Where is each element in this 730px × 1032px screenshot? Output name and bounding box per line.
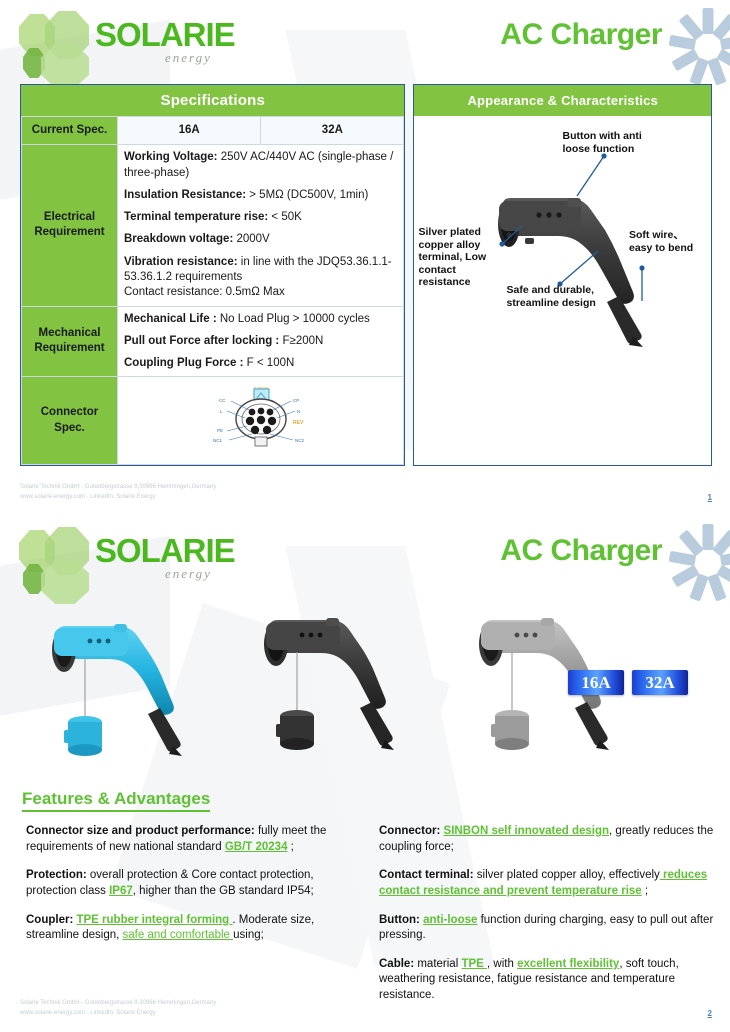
page-header: SOLARIE energy AC Charger (0, 516, 730, 596)
page-1: SOLARIE energy AC Charger Specifications… (0, 0, 730, 516)
appearance-header: Appearance & Characteristics (414, 85, 711, 116)
spec-item: Coupling Plug Force : F < 100N (124, 356, 397, 371)
spec-item: Terminal temperature rise: < 50K (124, 210, 397, 225)
appearance-figure: Button with anti loose function Silver p… (414, 116, 711, 416)
table-row-mechanical: Mechanical Requirement Mechanical Life :… (22, 306, 404, 377)
connector-pinout-diagram: A-wiring (124, 382, 397, 458)
brand-name: SOLARIE (95, 532, 235, 570)
document-title: AC Charger (500, 534, 662, 568)
specifications-panel: Specifications Current Spec. 16A 32A Ele… (20, 84, 405, 466)
electrical-requirement-body: Working Voltage: 250V AC/440V AC (single… (118, 145, 404, 306)
brand-tagline: energy (165, 566, 212, 582)
specifications-header: Specifications (21, 85, 404, 116)
svg-text:NC1: NC1 (213, 438, 222, 443)
callout-safe-durable: Safe and durable, streamline design (506, 284, 596, 309)
feature-item: Coupler: TPE rubber integral forming . M… (26, 913, 365, 944)
solarie-logo: SOLARIE energy (17, 524, 232, 596)
features-section-title: Features & Advantages (22, 789, 210, 812)
mechanical-requirement-body: Mechanical Life : No Load Plug > 10000 c… (118, 306, 404, 377)
page-header: SOLARIE energy AC Charger (0, 0, 730, 80)
mechanical-requirement-label: Mechanical Requirement (22, 306, 118, 377)
svg-text:A-wiring: A-wiring (254, 387, 268, 390)
table-row-electrical: Electrical Requirement Working Voltage: … (22, 145, 404, 306)
pinwheel-icon (664, 6, 730, 88)
document-title: AC Charger (500, 18, 662, 52)
svg-text:N: N (297, 409, 300, 414)
footer-line-1: Solarie Technik GmbH - Gutenbergstrasse … (20, 999, 216, 1008)
spec-item: Breakdown voltage: 2000V (124, 232, 397, 247)
footer-line-2: www.solarie-energy.com - LinkedIn: Solar… (20, 493, 216, 502)
table-row-current-spec: Current Spec. 16A 32A (22, 117, 404, 145)
page-2: SOLARIE energy AC Charger (0, 516, 730, 1032)
svg-text:NC2: NC2 (295, 438, 304, 443)
footer-line-1: Solarie Technik GmbH - Gutenbergstrasse … (20, 483, 216, 492)
features-right-column: Connector: SINBON self innovated design,… (379, 824, 718, 1017)
callout-button-anti-loose: Button with anti loose function (562, 130, 658, 155)
page-footer: Solarie Technik GmbH - Gutenbergstrasse … (20, 483, 712, 502)
svg-text:REV: REV (293, 420, 304, 426)
feature-item: Cable: material TPE , with excellent fle… (379, 957, 718, 1004)
connector-spec-body: A-wiring (118, 377, 404, 464)
spec-item: Contact resistance: 0.5mΩ Max (124, 285, 397, 300)
content-panels: Specifications Current Spec. 16A 32A Ele… (0, 80, 730, 466)
footer-company-info: Solarie Technik GmbH - Gutenbergstrasse … (20, 483, 216, 502)
current-value-32a: 32A (261, 117, 404, 145)
amp-rating-badges: 16A 32A (568, 670, 688, 695)
current-spec-label: Current Spec. (22, 117, 118, 145)
badge-16a: 16A (568, 670, 624, 695)
feature-item: Button: anti-loose function during charg… (379, 913, 718, 944)
svg-text:CP: CP (293, 398, 299, 403)
connector-spec-label: Connector Spec. (22, 377, 118, 464)
callout-silver-plated-terminal: Silver plated copper alloy terminal, Low… (418, 226, 502, 289)
page-number: 2 (708, 1009, 712, 1018)
table-row-connector: Connector Spec. A-wiring (22, 377, 404, 464)
brand-tagline: energy (165, 50, 212, 66)
feature-item: Connector size and product performance: … (26, 824, 365, 855)
electrical-requirement-label: Electrical Requirement (22, 145, 118, 306)
spec-item: Pull out Force after locking : F≥200N (124, 334, 397, 349)
feature-item: Contact terminal: silver plated copper a… (379, 868, 718, 899)
spec-item: Working Voltage: 250V AC/440V AC (single… (124, 150, 397, 181)
appearance-panel: Appearance & Characteristics (413, 84, 712, 466)
pinwheel-icon (664, 522, 730, 604)
specifications-table: Current Spec. 16A 32A Electrical Require… (21, 116, 404, 465)
footer-line-2: www.solarie-energy.com - LinkedIn: Solar… (20, 1009, 216, 1018)
svg-text:L: L (220, 409, 223, 414)
callout-soft-wire: Soft wire、easy to bend (629, 229, 707, 254)
page-footer: Solarie Technik GmbH - Gutenbergstrasse … (20, 999, 712, 1018)
feature-item: Protection: overall protection & Core co… (26, 868, 365, 899)
svg-text:CC: CC (219, 398, 226, 403)
features-left-column: Connector size and product performance: … (26, 824, 365, 1017)
product-plug-black (240, 600, 430, 770)
brand-name: SOLARIE (95, 16, 235, 54)
footer-company-info: Solarie Technik GmbH - Gutenbergstrasse … (20, 999, 216, 1018)
page-number: 1 (708, 493, 712, 502)
spec-item: Vibration resistance: in line with the J… (124, 255, 397, 286)
spec-item: Insulation Resistance: > 5MΩ (DC500V, 1m… (124, 188, 397, 203)
current-value-16a: 16A (118, 117, 261, 145)
svg-text:PE: PE (217, 428, 223, 433)
badge-32a: 32A (632, 670, 688, 695)
spec-item: Mechanical Life : No Load Plug > 10000 c… (124, 312, 397, 327)
product-gallery: 16A 32A (0, 598, 730, 783)
feature-item: Connector: SINBON self innovated design,… (379, 824, 718, 855)
features-columns: Connector size and product performance: … (0, 812, 730, 1017)
solarie-logo: SOLARIE energy (17, 8, 232, 80)
product-plug-cyan (28, 606, 218, 776)
